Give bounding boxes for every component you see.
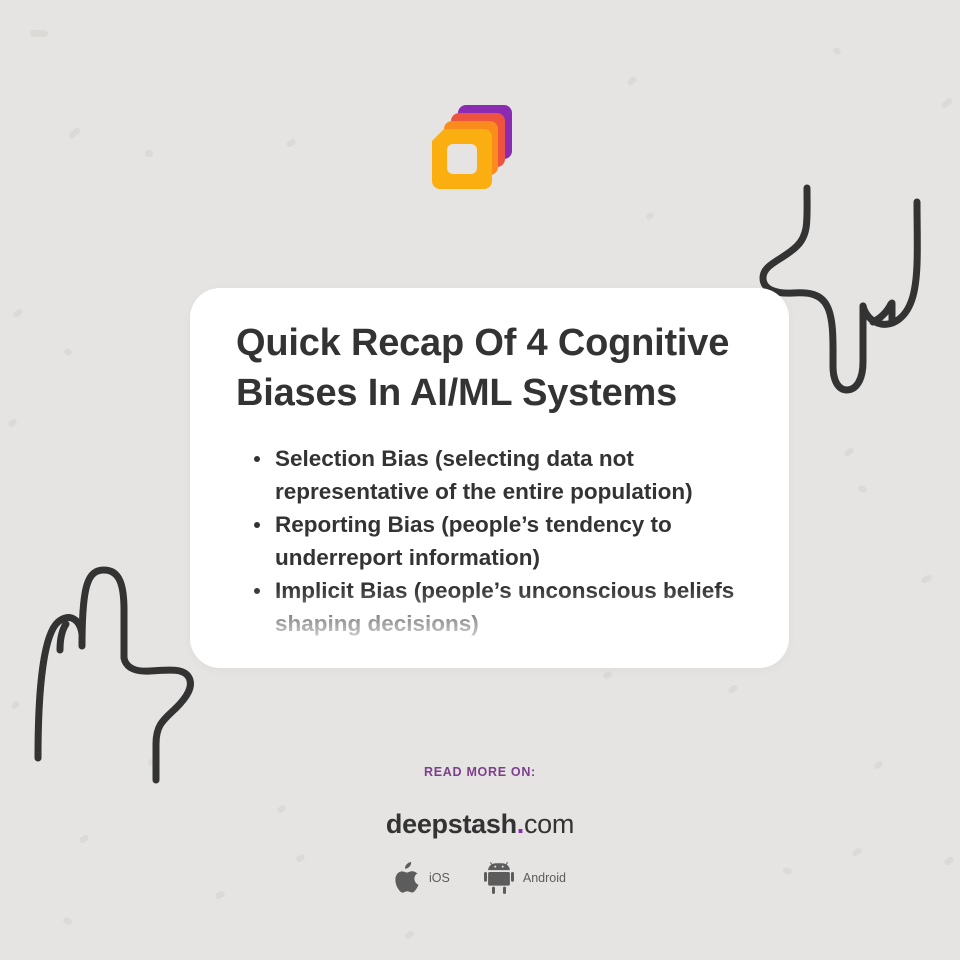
confetti-speck <box>843 447 855 458</box>
read-more-label: READ MORE ON: <box>0 765 960 779</box>
wordmark-dot: . <box>517 809 524 839</box>
wordmark-name: deepstash <box>386 809 517 839</box>
android-store-link[interactable]: Android <box>484 862 566 894</box>
apple-icon <box>394 862 420 894</box>
list-item: Reporting Bias (people’s tendency to und… <box>266 508 743 574</box>
confetti-speck <box>7 418 18 428</box>
confetti-speck <box>920 574 933 585</box>
confetti-speck <box>626 75 638 86</box>
idea-card-content: Quick Recap Of 4 Cognitive Biases In AI/… <box>190 288 789 640</box>
deepstash-logo <box>430 103 514 197</box>
confetti-speck <box>68 126 82 139</box>
pointing-hand-doodle-left <box>18 558 218 790</box>
ios-label: iOS <box>429 871 450 885</box>
confetti-speck <box>645 211 655 220</box>
page-title: Quick Recap Of 4 Cognitive Biases In AI/… <box>236 318 743 418</box>
android-label: Android <box>523 871 566 885</box>
deepstash-wordmark[interactable]: deepstash.com <box>0 809 960 840</box>
list-item: Implicit Bias (people’s unconscious beli… <box>266 574 743 640</box>
deepstash-idea-card-image: Quick Recap Of 4 Cognitive Biases In AI/… <box>0 0 960 960</box>
confetti-speck <box>602 670 613 680</box>
bias-list: Selection Bias (selecting data not repre… <box>236 442 743 640</box>
confetti-speck <box>857 484 868 493</box>
app-store-badges: iOS Android <box>0 862 960 894</box>
confetti-speck <box>30 30 48 38</box>
wordmark-tld: com <box>524 809 574 839</box>
idea-card[interactable]: Quick Recap Of 4 Cognitive Biases In AI/… <box>190 288 789 668</box>
confetti-speck <box>727 684 739 695</box>
confetti-speck <box>144 149 154 158</box>
ios-store-link[interactable]: iOS <box>394 862 450 894</box>
list-item: Selection Bias (selecting data not repre… <box>266 442 743 508</box>
logo-cutout <box>447 144 477 174</box>
footer: READ MORE ON: deepstash.com iOS <box>0 765 960 894</box>
confetti-speck <box>940 97 953 109</box>
confetti-speck <box>10 700 21 710</box>
android-icon <box>484 862 514 894</box>
confetti-speck <box>404 930 415 940</box>
confetti-speck <box>62 916 73 925</box>
confetti-speck <box>285 138 297 148</box>
confetti-speck <box>832 46 842 56</box>
confetti-speck <box>12 308 24 319</box>
confetti-speck <box>63 347 73 356</box>
